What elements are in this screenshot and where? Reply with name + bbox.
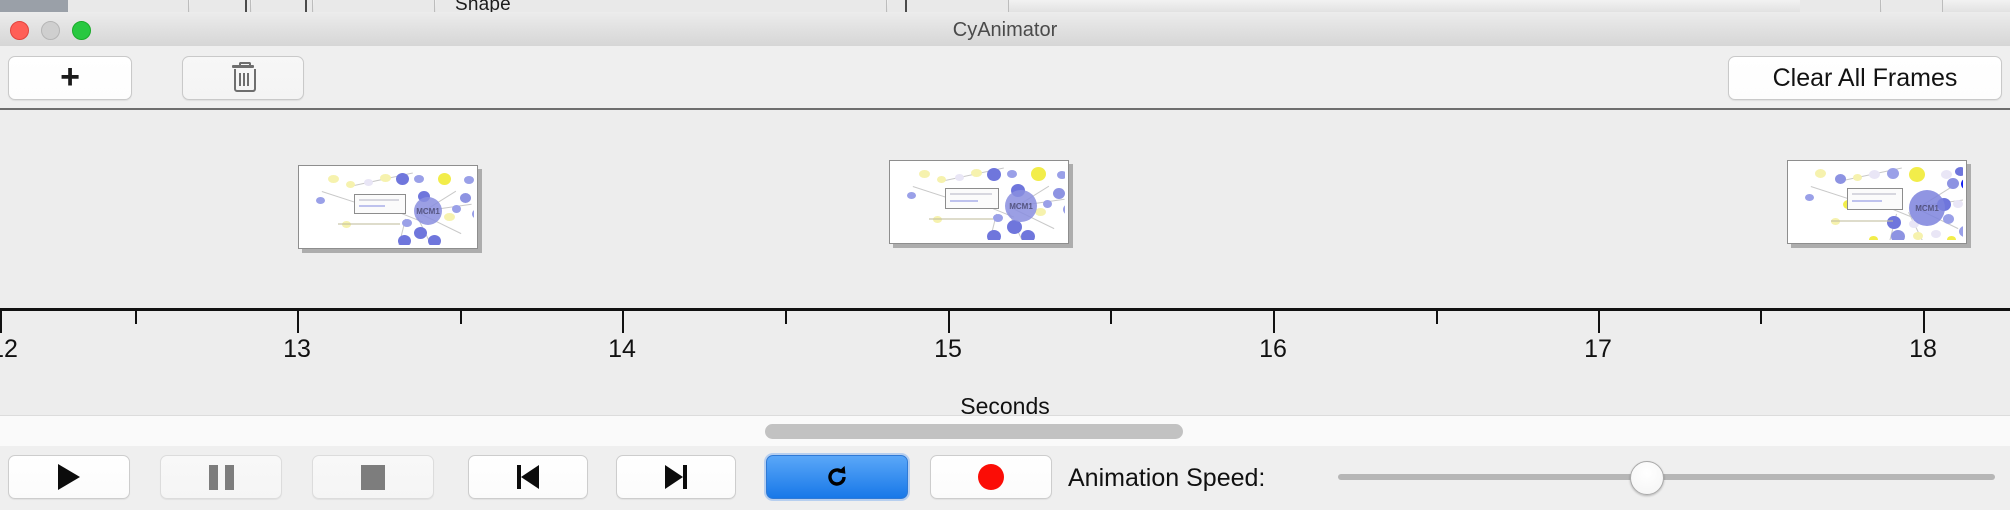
trash-icon <box>232 65 254 91</box>
scrollbar-thumb[interactable] <box>765 424 1183 439</box>
axis-tick <box>1110 311 1112 324</box>
skip-to-start-button[interactable] <box>468 455 588 499</box>
network-preview: MCM1 <box>893 164 1065 240</box>
frame-thumbnail[interactable]: MCM1 <box>298 165 478 249</box>
loop-button[interactable] <box>766 455 908 499</box>
timeline-scrollbar[interactable] <box>0 415 2010 447</box>
clear-all-frames-label: Clear All Frames <box>1773 64 1958 93</box>
axis-tick <box>1436 311 1438 324</box>
frame-thumbnail[interactable]: MCM1 <box>1787 160 1967 244</box>
stop-button[interactable] <box>312 455 434 499</box>
axis-tick-label: 15 <box>934 335 962 364</box>
annotation-callout <box>354 194 406 214</box>
loop-icon <box>822 462 852 492</box>
network-preview: MCM1 <box>1791 164 1963 240</box>
axis-tick <box>460 311 462 324</box>
annotation-callout <box>1847 188 1903 210</box>
skip-start-icon <box>515 465 541 489</box>
animation-speed-thumb[interactable] <box>1630 461 1664 495</box>
animation-speed-slider[interactable] <box>1338 474 1995 480</box>
axis-tick <box>1273 311 1275 333</box>
axis-tick-label: 17 <box>1584 335 1612 364</box>
add-frame-button[interactable]: + <box>8 56 132 100</box>
animation-speed-label: Animation Speed: <box>1068 464 1265 493</box>
skip-end-icon <box>663 465 689 489</box>
axis-tick-label: 14 <box>608 335 636 364</box>
axis-tick-label: 16 <box>1259 335 1287 364</box>
delete-frame-button[interactable] <box>182 56 304 100</box>
axis-tick-label: 13 <box>283 335 311 364</box>
background-window-sidebar <box>0 0 68 12</box>
record-icon <box>978 464 1004 490</box>
pause-icon <box>209 465 234 490</box>
axis-tick <box>1598 311 1600 333</box>
axis-tick <box>0 311 2 333</box>
skip-to-end-button[interactable] <box>616 455 736 499</box>
timeline-axis <box>0 308 2010 311</box>
title-bar: CyAnimator <box>0 12 2010 47</box>
stop-icon <box>361 465 385 490</box>
annotation-callout <box>945 188 999 209</box>
axis-tick <box>785 311 787 324</box>
axis-tick <box>1923 311 1925 333</box>
frame-thumbnail[interactable]: MCM1 <box>889 160 1069 244</box>
axis-tick-label: 12 <box>0 335 18 364</box>
axis-tick <box>1760 311 1762 324</box>
axis-tick <box>948 311 950 333</box>
pause-button[interactable] <box>160 455 282 499</box>
hub-node-label: MCM1 <box>1909 190 1945 226</box>
record-button[interactable] <box>930 455 1052 499</box>
clear-all-frames-button[interactable]: Clear All Frames <box>1728 56 2002 100</box>
playback-controls: Animation Speed: <box>0 446 2010 510</box>
window-title: CyAnimator <box>0 19 2010 42</box>
axis-tick <box>297 311 299 333</box>
play-icon <box>58 464 80 490</box>
axis-tick <box>135 311 137 324</box>
hub-node-label: MCM1 <box>414 197 442 225</box>
toolbar: + Clear All Frames <box>0 46 2010 110</box>
axis-tick-label: 18 <box>1909 335 1937 364</box>
plus-icon: + <box>60 60 80 94</box>
cyanimator-window: Shape CyAnimator + Clear All Frames <box>0 0 2010 510</box>
hub-node-label: MCM1 <box>1005 190 1037 222</box>
play-button[interactable] <box>8 455 130 499</box>
network-preview: MCM1 <box>302 169 474 245</box>
axis-title: Seconds <box>0 393 2010 415</box>
axis-tick <box>622 311 624 333</box>
timeline-panel[interactable]: MCM1 <box>0 110 2010 415</box>
